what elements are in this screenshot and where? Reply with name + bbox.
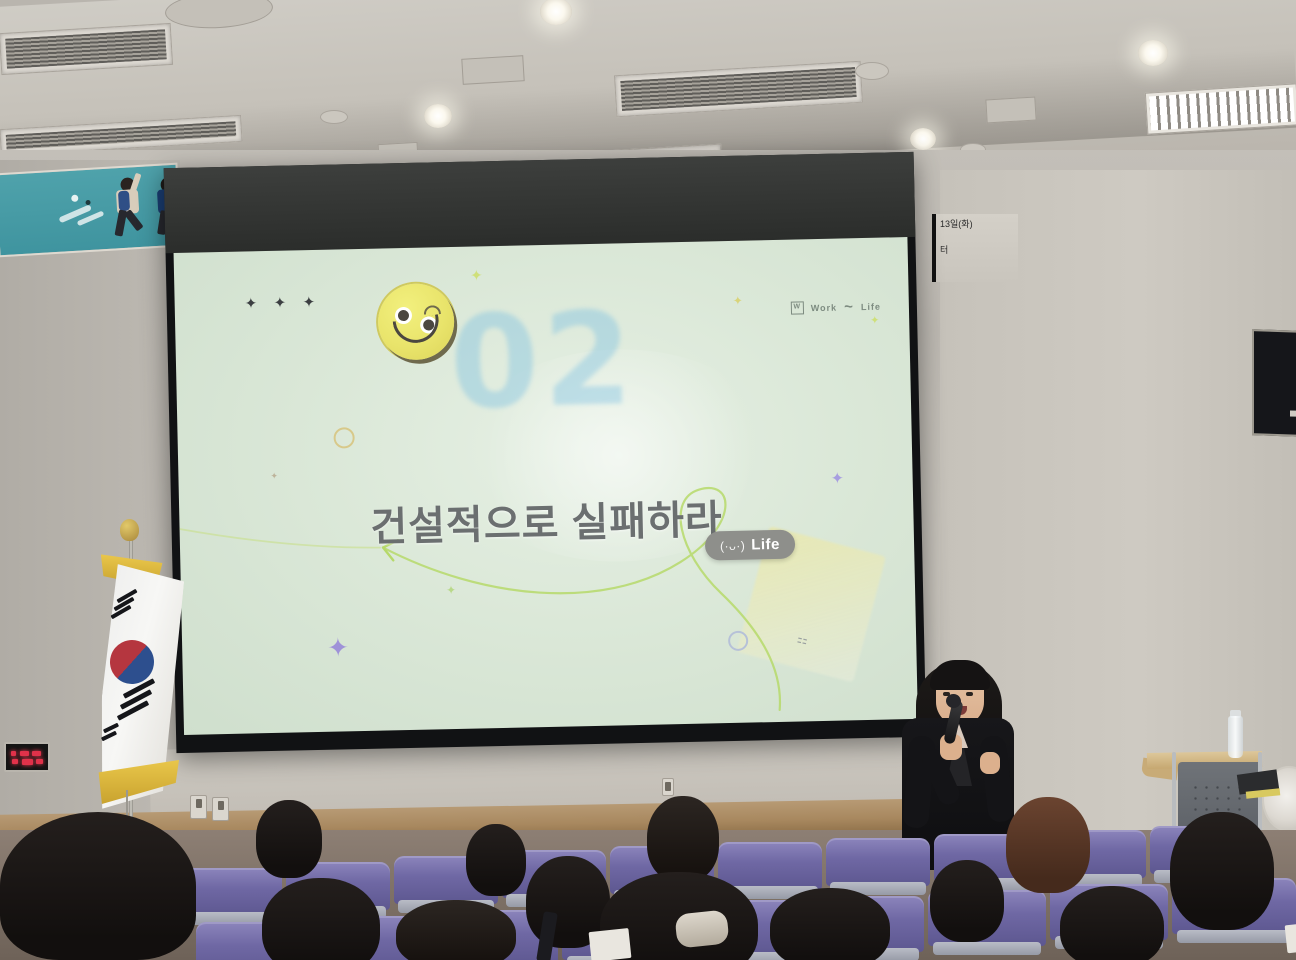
audience-member (930, 860, 1004, 942)
ceiling-downlight (910, 128, 936, 150)
sparkle-icon: ✦ (270, 471, 278, 482)
monitor-indicator-icon (1290, 410, 1296, 416)
hair-clip (674, 909, 729, 948)
screen-top-bar (164, 152, 916, 253)
ceiling-access-panel (985, 97, 1036, 124)
audience-member (647, 796, 719, 882)
audience-member (1060, 886, 1164, 960)
audience-member (1170, 812, 1274, 930)
badge-emoticon-icon: (·ᴗ·) (720, 539, 745, 554)
sparkle-icon: ✦ (733, 294, 743, 308)
audience-member (770, 888, 890, 960)
banner-figure-runner (104, 174, 154, 239)
projection-screen: 02 W Work ~ Life ⚏ (164, 152, 927, 753)
brand-word-work: Work (811, 302, 838, 313)
wall-outlet (212, 797, 229, 821)
sparkle-icon: ✦ (327, 632, 349, 663)
presentation-slide: 02 W Work ~ Life ⚏ (174, 237, 918, 735)
wall-banner (0, 163, 182, 258)
handout-paper (589, 928, 632, 960)
sparkle-icon: ✦ (830, 468, 844, 488)
sparkle-icon: ✦ (870, 314, 880, 327)
ceiling-downlight (1138, 40, 1168, 66)
audience-member (256, 800, 322, 878)
auditorium-seat (826, 838, 930, 886)
audience-member (1006, 797, 1090, 893)
brand-mark-icon: W (791, 301, 804, 314)
sparkle-icon: ✦ (446, 583, 456, 597)
brand-word-life: Life (861, 301, 881, 311)
presentation-room-photo: 13일(화) 터 02 W Work ~ Life (0, 0, 1296, 960)
led-display-panel (4, 742, 50, 772)
audience-member (262, 878, 380, 960)
smoke-detector (855, 62, 889, 80)
audience-member (0, 812, 196, 960)
water-bottle (1228, 716, 1243, 758)
presenter-eye (966, 692, 973, 696)
audience-member (466, 824, 526, 896)
wall-outlet (190, 795, 207, 819)
sign-line-2: 터 (940, 246, 1014, 256)
slide-brand-lockup: W Work ~ Life (791, 298, 881, 317)
audience-member (396, 900, 516, 960)
ceiling-access-panel (461, 55, 524, 85)
flag-finial (120, 519, 139, 541)
life-badge: (·ᴗ·)Life (705, 530, 795, 561)
sparkle-icon: ✦ (244, 294, 257, 312)
smoke-detector (320, 110, 348, 124)
sparkle-icon: ✦ (470, 266, 483, 284)
brand-separator-icon: ~ (844, 298, 854, 315)
wall-outlet (662, 778, 674, 796)
presenter-hand-gesture (980, 752, 1000, 774)
auditorium-seat (718, 842, 822, 890)
wall-schedule-sign: 13일(화) 터 (932, 214, 1018, 282)
ceiling-downlight (424, 104, 452, 128)
badge-label: Life (751, 536, 780, 554)
handout-paper (1285, 923, 1296, 954)
sparkle-icon: ✦ (302, 293, 315, 311)
wall-monitor (1252, 329, 1296, 437)
circle-outline-decoration (333, 427, 354, 448)
sign-line-1: 13일(화) (940, 220, 1014, 230)
sparkle-icon: ✦ (273, 294, 286, 312)
